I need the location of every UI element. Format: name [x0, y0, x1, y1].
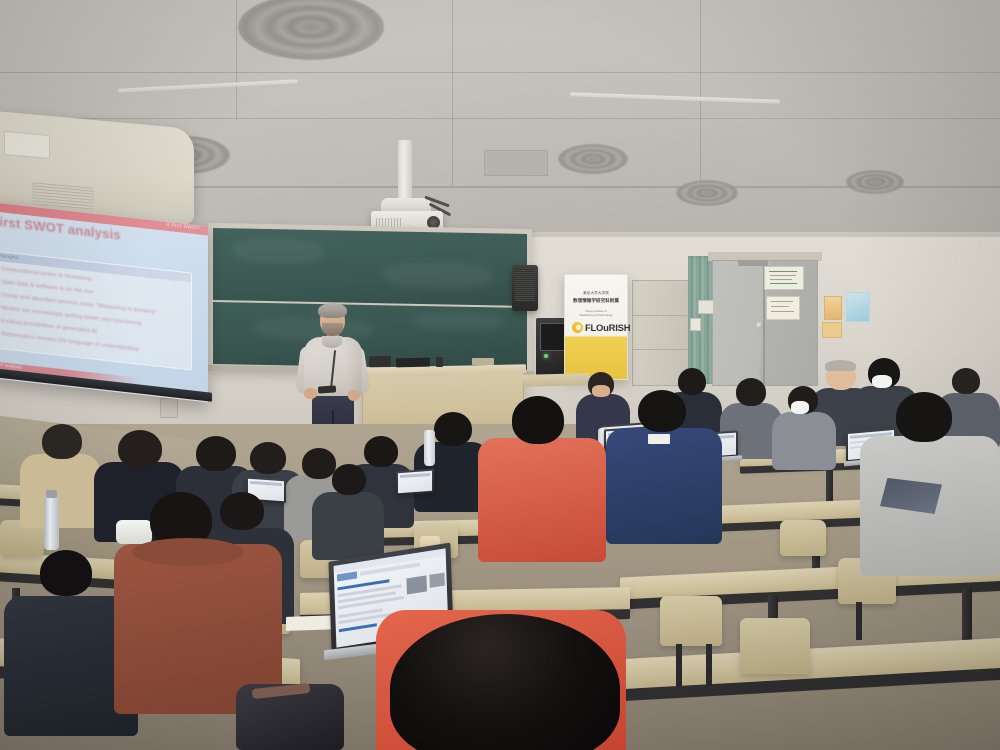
presenter-right-hand [348, 390, 360, 401]
wall-poster-2 [846, 292, 870, 322]
lectern-microphone[interactable] [436, 357, 443, 367]
chair-leg-2 [706, 644, 712, 686]
banner-japanese-line-2: 数理情報学研究科附属 [565, 298, 627, 304]
wall-poster-1 [824, 296, 842, 320]
ceiling-light-2 [570, 92, 780, 103]
chair-2[interactable] [740, 618, 810, 674]
blackboard [208, 223, 532, 377]
door-sign-lower [766, 296, 800, 320]
slide-footer-text: SWOT analysis [0, 361, 22, 370]
face-mask [791, 401, 809, 414]
slide-bullet-6: Mathematics remains the language of unde… [1, 331, 139, 352]
chair-leg-1 [676, 644, 682, 686]
presenter [296, 306, 368, 438]
water-bottle-center[interactable] [424, 430, 435, 466]
side-wall-panel [160, 398, 178, 418]
lecture-hall-photo: 東京大学大学院 数理情報学研究科附属 Tokyo Institute of St… [0, 0, 1000, 750]
presentation-remote [318, 385, 336, 393]
banner-english-line-2: Statistical and Technology [579, 313, 612, 317]
slide-content-box: Strengths Computational power is increas… [0, 250, 192, 370]
wall-speaker [512, 265, 538, 311]
ceiling-light-1 [118, 79, 298, 92]
ac-label-plate [4, 131, 50, 159]
banner-english-line: Tokyo Institute of Statistical and Techn… [565, 309, 627, 318]
bottle-cap-left [46, 490, 57, 498]
chair-4[interactable] [780, 520, 826, 556]
shirt-print [648, 434, 670, 444]
chair-leg-3 [856, 602, 862, 640]
slide-section-header: Strengths [0, 251, 191, 282]
face-mask-2 [872, 375, 892, 388]
banner-brand-name: FLOuRISH [585, 322, 630, 333]
power-led-icon [544, 354, 548, 358]
flourish-logo-inner [576, 325, 581, 330]
banner-japanese-line-1: 東京大学大学院 [565, 291, 627, 296]
chair-1[interactable] [660, 596, 722, 646]
ceiling-vent-3 [558, 144, 628, 174]
wall-poster-3 [822, 322, 842, 338]
hood-collar [132, 538, 244, 566]
ceiling-vent-5 [846, 170, 904, 194]
ceiling-panel-recess [484, 150, 548, 176]
slide-section-header-text: Strengths [0, 253, 18, 261]
blackboard-upper-panel [213, 228, 527, 306]
projected-slide: A first SWOT A first SWOT analysis Stren… [0, 202, 208, 397]
lecture-hall-door[interactable] [712, 258, 816, 384]
light-switch-panel[interactable] [698, 300, 714, 314]
wall-outlet [690, 318, 701, 331]
coffee-cup-left[interactable] [116, 520, 152, 544]
presenter-collar [322, 336, 342, 348]
speaker-mesh [515, 269, 535, 301]
door-handle[interactable] [756, 322, 763, 329]
presenter-left-hand [304, 388, 317, 399]
presenter-beard [322, 323, 343, 336]
door-sign-upper [764, 266, 804, 290]
lectern-device-1[interactable] [369, 356, 391, 367]
presenter-hair [318, 303, 347, 318]
water-bottle-left[interactable] [44, 496, 59, 550]
ceiling-vent-4 [676, 180, 738, 206]
projector-mount-pole [398, 140, 412, 206]
lectern-device-2[interactable] [396, 358, 430, 368]
front-side-desk [522, 373, 588, 387]
ceiling-vent-1 [238, 0, 384, 60]
lectern-papers [472, 358, 494, 365]
flourish-roll-up-banner: 東京大学大学院 数理情報学研究科附属 Tokyo Institute of St… [564, 274, 628, 380]
